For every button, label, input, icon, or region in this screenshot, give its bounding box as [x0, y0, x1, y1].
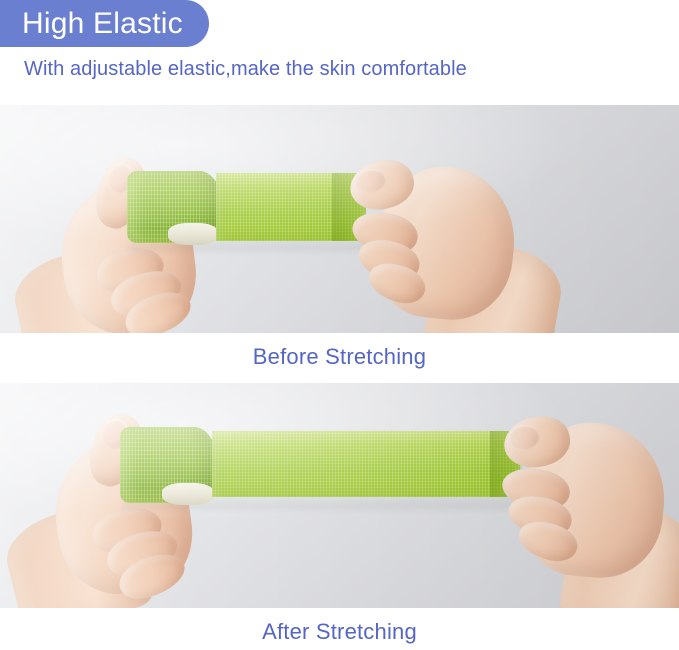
left-forearm	[8, 241, 156, 333]
left-finger-3	[119, 284, 196, 333]
header: High Elastic With adjustable elastic,mak…	[0, 0, 679, 105]
left-finger-2	[106, 263, 187, 323]
right-forearm-after	[558, 497, 679, 608]
right-forearm	[421, 235, 568, 333]
tape-strip-end-before	[332, 173, 366, 241]
feature-badge-label: High Elastic	[22, 9, 183, 39]
tape-strip-end-after	[490, 431, 522, 497]
tape-strip-after	[212, 431, 520, 497]
photo-before-stretching	[0, 105, 679, 333]
left-finger-1-after	[88, 501, 166, 559]
caption-before-stretching: Before Stretching	[0, 344, 679, 370]
left-finger-2-after	[102, 523, 183, 583]
product-feature-panel: High Elastic With adjustable elastic,mak…	[0, 0, 679, 650]
right-finger-3-after	[514, 515, 582, 568]
right-palm	[370, 160, 521, 325]
right-finger-3	[364, 256, 431, 310]
photo-after-stretching	[0, 383, 679, 608]
tape-roll-core-after	[162, 483, 214, 505]
feature-badge: High Elastic	[0, 0, 209, 47]
left-finger-3-after	[113, 546, 190, 607]
left-forearm-after	[0, 497, 153, 608]
tape-roll-core-before	[168, 223, 218, 245]
header-subtitle: With adjustable elastic,make the skin co…	[24, 58, 467, 81]
caption-after-stretching: After Stretching	[0, 619, 679, 645]
right-palm-after	[518, 417, 671, 583]
